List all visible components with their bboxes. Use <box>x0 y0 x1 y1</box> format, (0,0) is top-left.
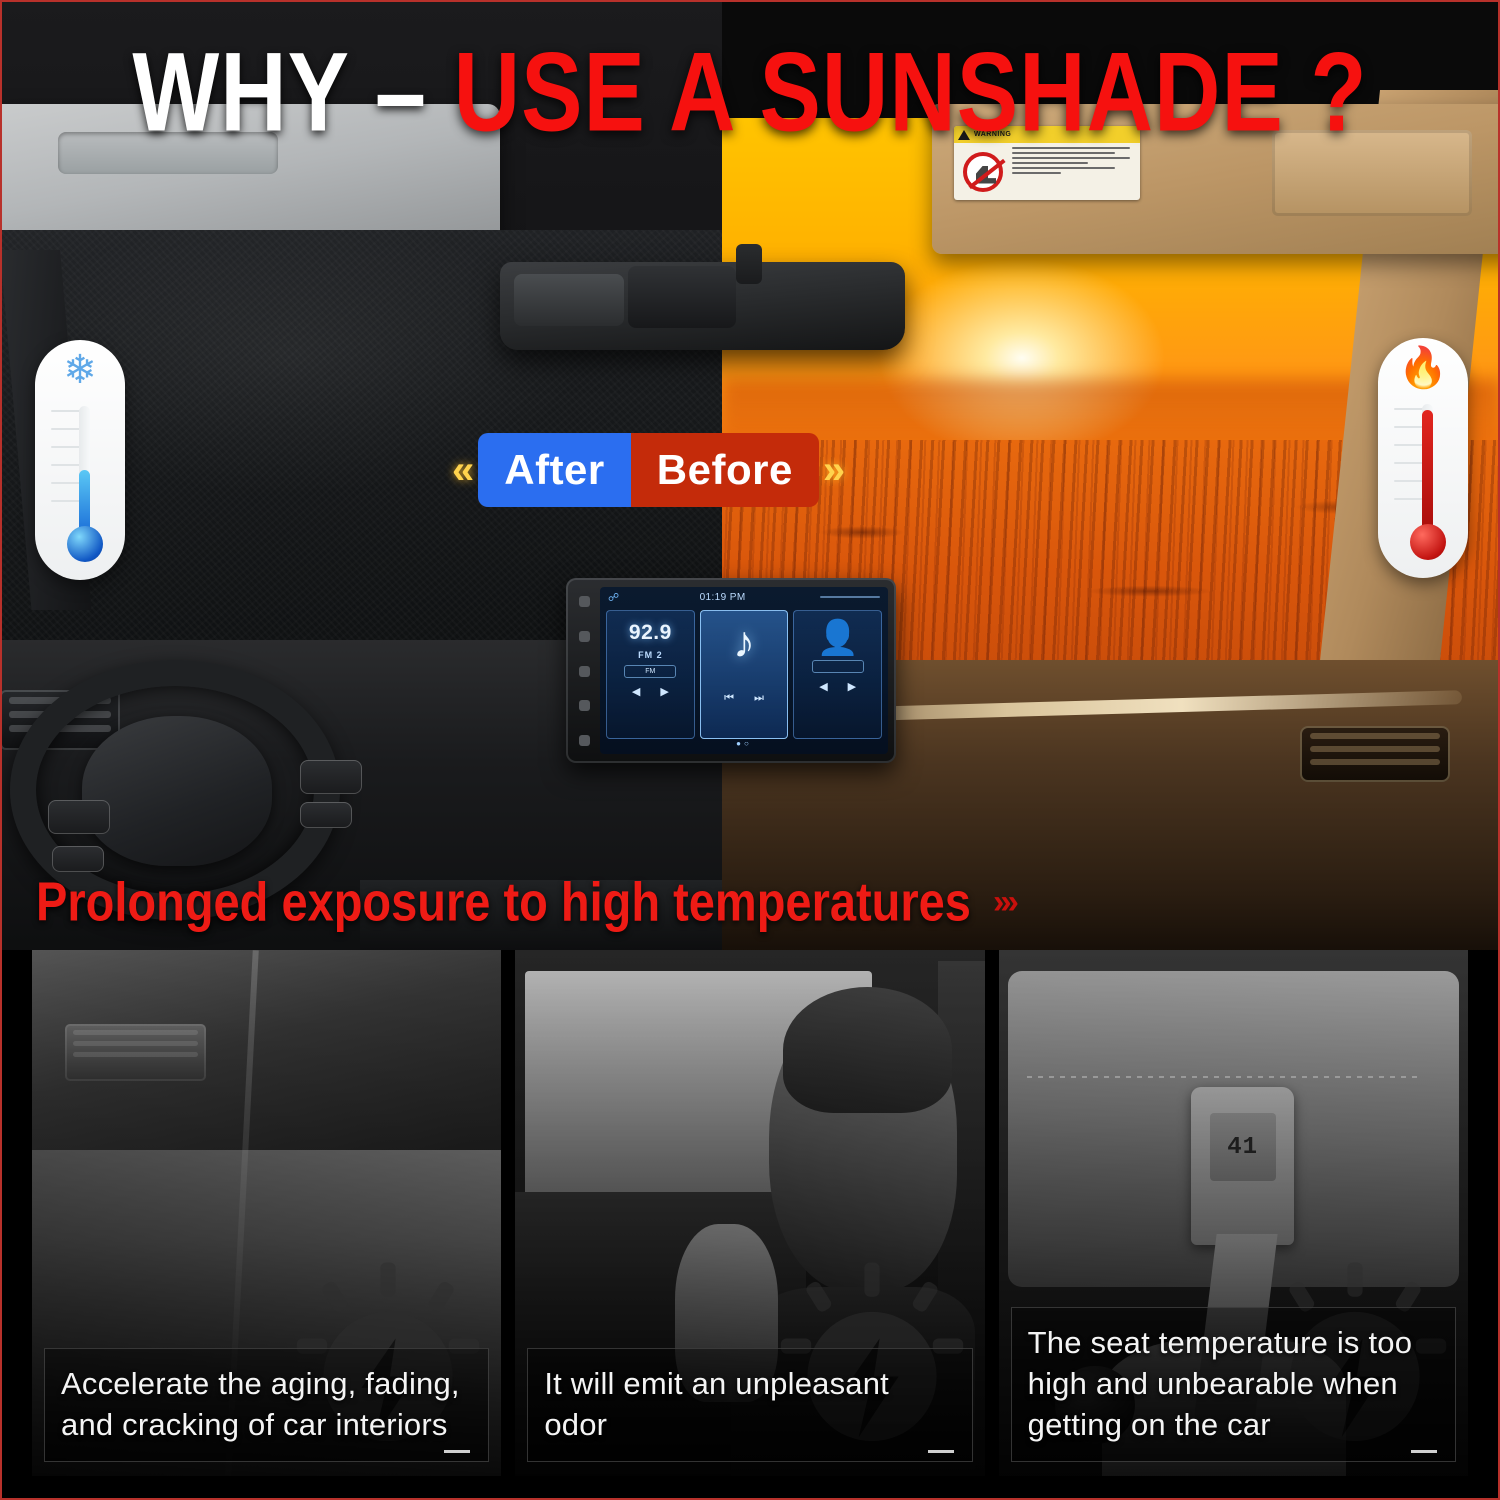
chevron-right-icon: » <box>823 450 845 490</box>
caption-underscore <box>444 1450 470 1453</box>
radio-preset-chip[interactable]: FM <box>624 665 676 678</box>
radio-frequency: 92.9 <box>629 621 672 645</box>
radio-tile[interactable]: 92.9 FM 2 FM ◀ ▶ <box>606 610 695 739</box>
menu-button[interactable] <box>579 735 590 746</box>
person-icon: 👤 <box>817 621 859 655</box>
banner-arrows-icon: ››› <box>993 883 1015 922</box>
mirror-glass <box>514 274 624 326</box>
title-dash: – <box>375 30 427 154</box>
title-lead: WHY <box>132 30 348 154</box>
radio-prev-button[interactable]: ◀ <box>632 685 640 698</box>
flame-icon: 🔥 <box>1378 346 1468 390</box>
volume-button[interactable] <box>579 666 590 677</box>
profile-chip[interactable] <box>812 660 864 673</box>
interior-aging-panel: Accelerate the aging, fading, and cracki… <box>32 950 501 1476</box>
snowflake-icon: ❄ <box>35 348 125 392</box>
profile-tile[interactable]: 👤 ◀ ▶ <box>793 610 882 739</box>
mirror-mount-stem <box>736 244 762 284</box>
interior-aging-caption: Accelerate the aging, fading, and cracki… <box>44 1348 489 1462</box>
apps-button[interactable] <box>579 700 590 711</box>
sunshade-infographic: WARNING <box>0 0 1500 1500</box>
media-rewind-button[interactable]: ⏮ <box>724 692 734 705</box>
head-unit-side-buttons[interactable] <box>576 596 592 746</box>
power-button[interactable] <box>579 596 590 607</box>
infotainment-head-unit[interactable]: ☍ 01:19 PM 92.9 FM 2 FM ◀ ▶ <box>566 578 896 763</box>
head-unit-screen[interactable]: ☍ 01:19 PM 92.9 FM 2 FM ◀ ▶ <box>600 587 888 754</box>
caption-underscore <box>1411 1450 1437 1453</box>
passenger-air-vent <box>1300 726 1450 782</box>
caption-text: The seat temperature is too high and unb… <box>1028 1322 1439 1445</box>
media-tile[interactable]: ♪ ⏮ ⏭ <box>700 610 789 739</box>
heat-warning-text: Prolonged exposure to high temperatures <box>36 872 971 932</box>
status-bar: ☍ 01:19 PM <box>600 587 888 607</box>
clock-label: 01:19 PM <box>631 592 814 603</box>
heat-warning-banner: Prolonged exposure to high temperatures … <box>36 876 1015 928</box>
media-forward-button[interactable]: ⏭ <box>754 692 764 705</box>
steering-wheel-airbag-hub <box>82 716 272 866</box>
profile-prev-button[interactable]: ◀ <box>819 680 827 693</box>
caption-text: Accelerate the aging, fading, and cracki… <box>61 1363 472 1445</box>
thermometer-level-hot <box>1422 410 1433 536</box>
hot-seat-panel: 41 The seat temperature is too high and … <box>999 950 1468 1476</box>
status-bar-line <box>820 596 880 598</box>
hot-thermometer-widget: 🔥 <box>1378 338 1468 578</box>
steering-control-right-lower <box>300 802 352 828</box>
hot-seat-caption: The seat temperature is too high and unb… <box>1011 1307 1456 1462</box>
rearview-mirror <box>500 262 905 350</box>
unpleasant-odor-caption: It will emit an unpleasant odor <box>527 1348 972 1462</box>
thermometer-bulb-hot <box>1410 524 1446 560</box>
before-after-toggle[interactable]: « After Before » <box>452 433 845 507</box>
steering-control-left-lower <box>52 846 104 872</box>
radio-next-button[interactable]: ▶ <box>660 685 668 698</box>
caption-underscore <box>928 1450 954 1453</box>
caption-text: It will emit an unpleasant odor <box>544 1363 955 1445</box>
home-tiles[interactable]: 92.9 FM 2 FM ◀ ▶ ♪ ⏮ ⏭ <box>600 607 888 739</box>
page-title: WHY – USE A SUNSHADE ? <box>0 34 1500 130</box>
bluetooth-icon: ☍ <box>608 591 619 604</box>
radio-band: FM 2 <box>638 650 663 660</box>
mirror-housing <box>628 266 736 328</box>
chevron-left-icon: « <box>452 450 474 490</box>
page-indicator: ●○ <box>600 739 888 748</box>
profile-next-button[interactable]: ▶ <box>848 680 856 693</box>
music-note-icon: ♪ <box>733 621 755 665</box>
title-highlight: USE A SUNSHADE ? <box>454 30 1368 154</box>
cold-thermometer-widget: ❄ <box>35 340 125 580</box>
consequences-panel-row: Accelerate the aging, fading, and cracki… <box>0 950 1500 1500</box>
after-badge[interactable]: After <box>478 433 631 507</box>
thermometer-bulb-cold <box>67 526 103 562</box>
steering-control-right <box>300 760 362 794</box>
steering-control-left <box>48 800 110 834</box>
home-button[interactable] <box>579 631 590 642</box>
before-badge[interactable]: Before <box>631 433 819 507</box>
unpleasant-odor-panel: It will emit an unpleasant odor <box>515 950 984 1476</box>
